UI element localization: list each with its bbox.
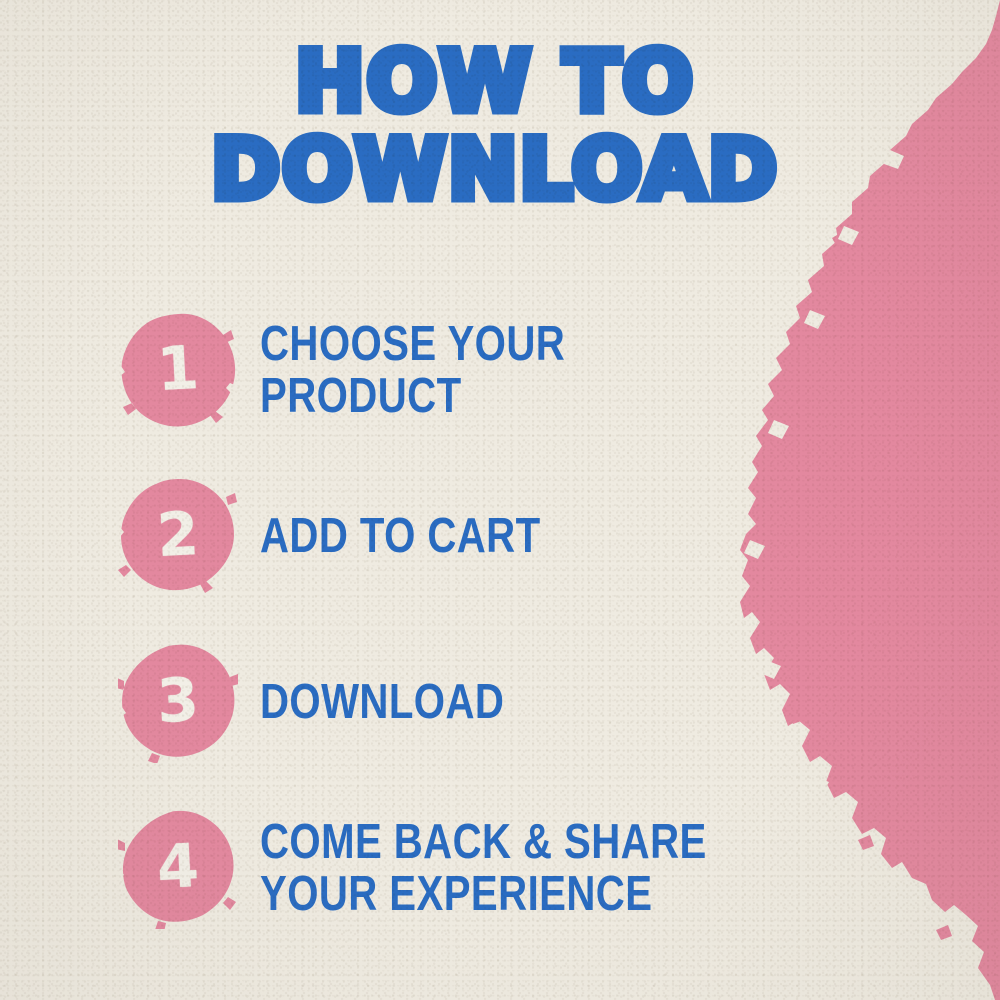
step-item-1: 1 CHOOSE YOUR PRODUCT: [0, 288, 820, 454]
step-number-badge-3: 3: [118, 643, 238, 763]
page-title: HOW TO DOWNLOAD: [0, 42, 1000, 209]
poster-canvas: HOW TO DOWNLOAD 1 CHOOSE YOUR PRODUCT 2: [0, 0, 1000, 1000]
step-number-4: 4: [115, 806, 241, 932]
step-label-3: DOWNLOAD: [260, 677, 719, 729]
step-label-2: ADD TO CART: [260, 511, 719, 563]
steps-list: 1 CHOOSE YOUR PRODUCT 2 ADD TO CART 3: [0, 288, 820, 952]
step-number-badge-1: 1: [118, 311, 238, 431]
title-line-2: DOWNLOAD: [0, 130, 990, 210]
title-line-1: HOW TO: [0, 42, 990, 122]
step-label-1: CHOOSE YOUR PRODUCT: [260, 319, 719, 423]
step-number-3: 3: [115, 640, 241, 766]
step-item-3: 3 DOWNLOAD: [0, 620, 820, 786]
step-number-badge-4: 4: [118, 809, 238, 929]
step-number-badge-2: 2: [118, 477, 238, 597]
step-item-2: 2 ADD TO CART: [0, 454, 820, 620]
step-number-2: 2: [115, 474, 241, 600]
step-label-4: COME BACK & SHARE YOUR EXPERIENCE: [260, 817, 719, 921]
step-number-1: 1: [115, 308, 241, 434]
step-item-4: 4 COME BACK & SHARE YOUR EXPERIENCE: [0, 786, 820, 952]
